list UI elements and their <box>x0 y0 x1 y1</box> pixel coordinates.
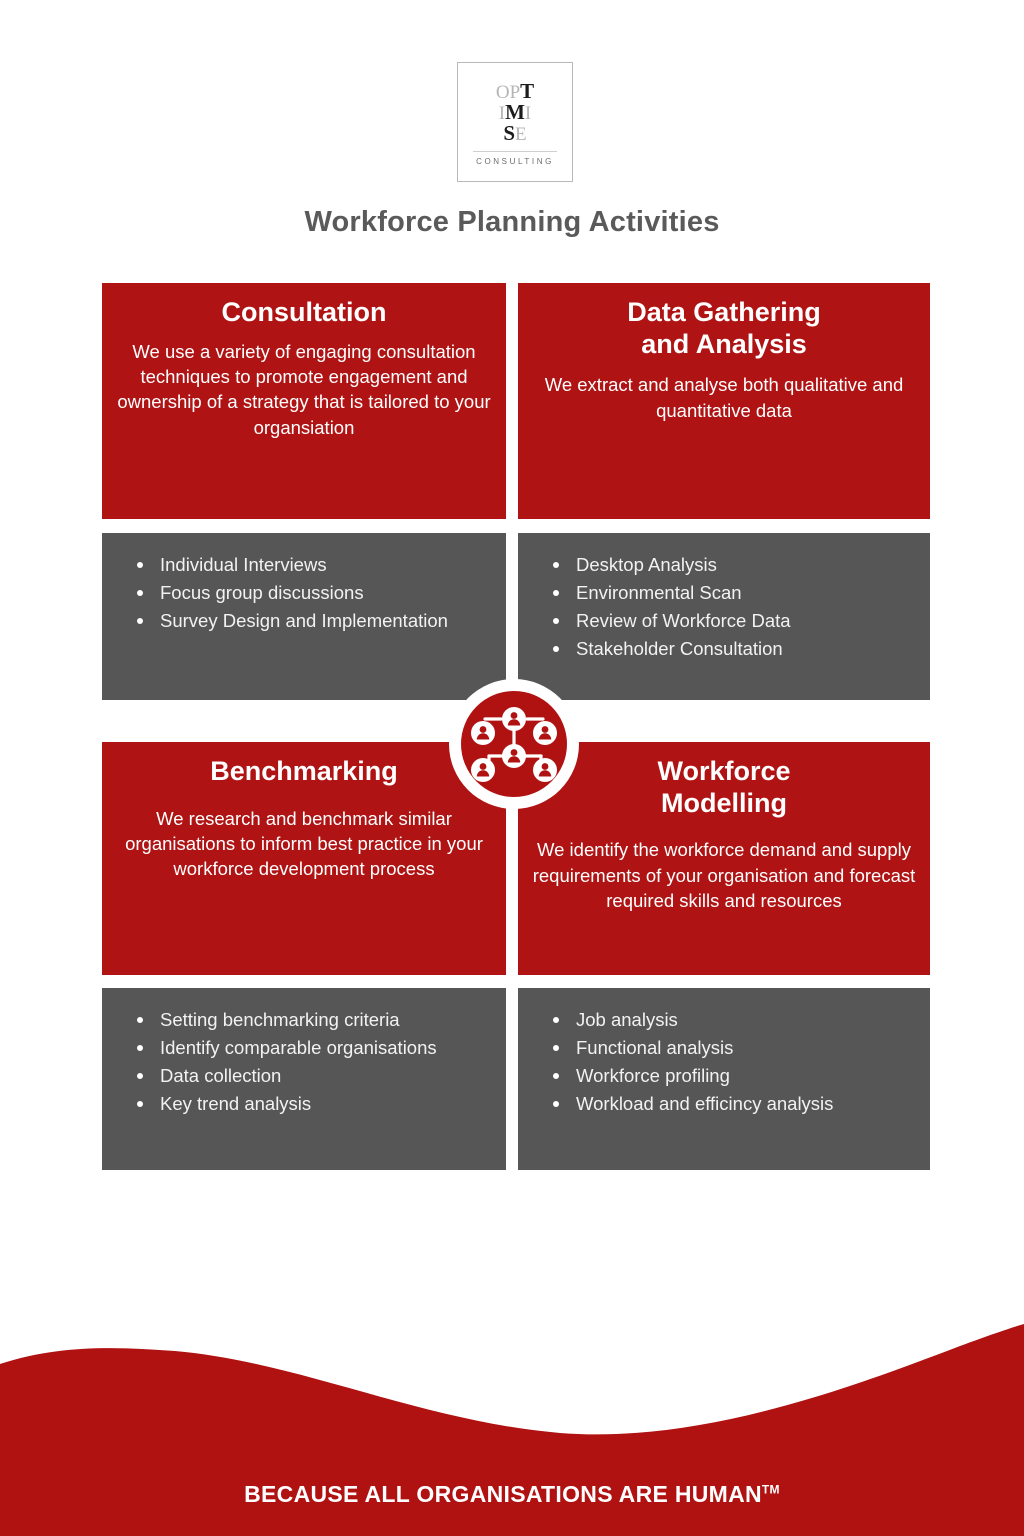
optimise-consulting-logo: OPT IMI SE CONSULTING <box>457 62 573 182</box>
logo-divider <box>473 151 557 152</box>
card-title-consultation: Consultation <box>222 297 387 329</box>
card-list-workforce-modelling: Job analysis Functional analysis Workfor… <box>518 988 930 1170</box>
trademark-symbol: TM <box>762 1482 780 1496</box>
list-item: Workforce profiling <box>548 1062 914 1090</box>
list-item: Functional analysis <box>548 1034 914 1062</box>
card-list-data-gathering: Desktop Analysis Environmental Scan Revi… <box>518 533 930 700</box>
logo-letter-s: S <box>503 121 515 145</box>
list-item: Survey Design and Implementation <box>132 607 490 635</box>
card-title-workforce-modelling: Workforce Modelling <box>657 756 790 819</box>
logo-letter-i-right: I <box>525 103 531 124</box>
page-title: Workforce Planning Activities <box>0 206 1024 239</box>
card-list-consultation: Individual Interviews Focus group discus… <box>102 533 506 700</box>
list-item: Workload and efficincy analysis <box>548 1090 914 1118</box>
card-description-benchmarking: We research and benchmark similar organi… <box>116 806 492 882</box>
logo-letter-e: E <box>515 124 527 145</box>
org-network-people-svg <box>471 706 557 782</box>
list-item: Focus group discussions <box>132 579 490 607</box>
list-item: Data collection <box>132 1062 490 1090</box>
bullet-list-workforce-modelling: Job analysis Functional analysis Workfor… <box>548 1006 914 1118</box>
card-header-workforce-modelling: Workforce Modelling We identify the work… <box>518 742 930 975</box>
list-item: Job analysis <box>548 1006 914 1034</box>
list-item: Environmental Scan <box>548 579 914 607</box>
decorative-wave <box>0 1316 1024 1436</box>
card-description-data-gathering: We extract and analyse both qualitative … <box>532 372 916 423</box>
center-hub <box>449 679 579 809</box>
bullet-list-consultation: Individual Interviews Focus group discus… <box>132 551 490 635</box>
logo-wordmark: OPT IMI SE <box>458 77 572 149</box>
list-item: Review of Workforce Data <box>548 607 914 635</box>
list-item: Stakeholder Consultation <box>548 635 914 663</box>
bullet-list-data-gathering: Desktop Analysis Environmental Scan Revi… <box>548 551 914 663</box>
logo-subtitle: CONSULTING <box>458 157 572 166</box>
org-network-people-icon <box>461 691 567 797</box>
infographic-page: OPT IMI SE CONSULTING Workforce Planning… <box>0 0 1024 1536</box>
card-header-consultation: Consultation We use a variety of engagin… <box>102 283 506 519</box>
list-item: Setting benchmarking criteria <box>132 1006 490 1034</box>
card-header-benchmarking: Benchmarking We research and benchmark s… <box>102 742 506 975</box>
footer-tagline-text: BECAUSE ALL ORGANISATIONS ARE HUMAN <box>244 1481 762 1507</box>
card-description-consultation: We use a variety of engaging consultatio… <box>116 339 492 440</box>
list-item: Individual Interviews <box>132 551 490 579</box>
footer-tagline: BECAUSE ALL ORGANISATIONS ARE HUMANTM <box>0 1481 1024 1508</box>
card-list-benchmarking: Setting benchmarking criteria Identify c… <box>102 988 506 1170</box>
list-item: Identify comparable organisations <box>132 1034 490 1062</box>
card-description-workforce-modelling: We identify the workforce demand and sup… <box>532 837 916 913</box>
list-item: Desktop Analysis <box>548 551 914 579</box>
list-item: Key trend analysis <box>132 1090 490 1118</box>
bullet-list-benchmarking: Setting benchmarking criteria Identify c… <box>132 1006 490 1118</box>
card-title-data-gathering: Data Gathering and Analysis <box>627 297 821 360</box>
card-title-benchmarking: Benchmarking <box>210 756 398 788</box>
card-header-data-gathering: Data Gathering and Analysis We extract a… <box>518 283 930 519</box>
